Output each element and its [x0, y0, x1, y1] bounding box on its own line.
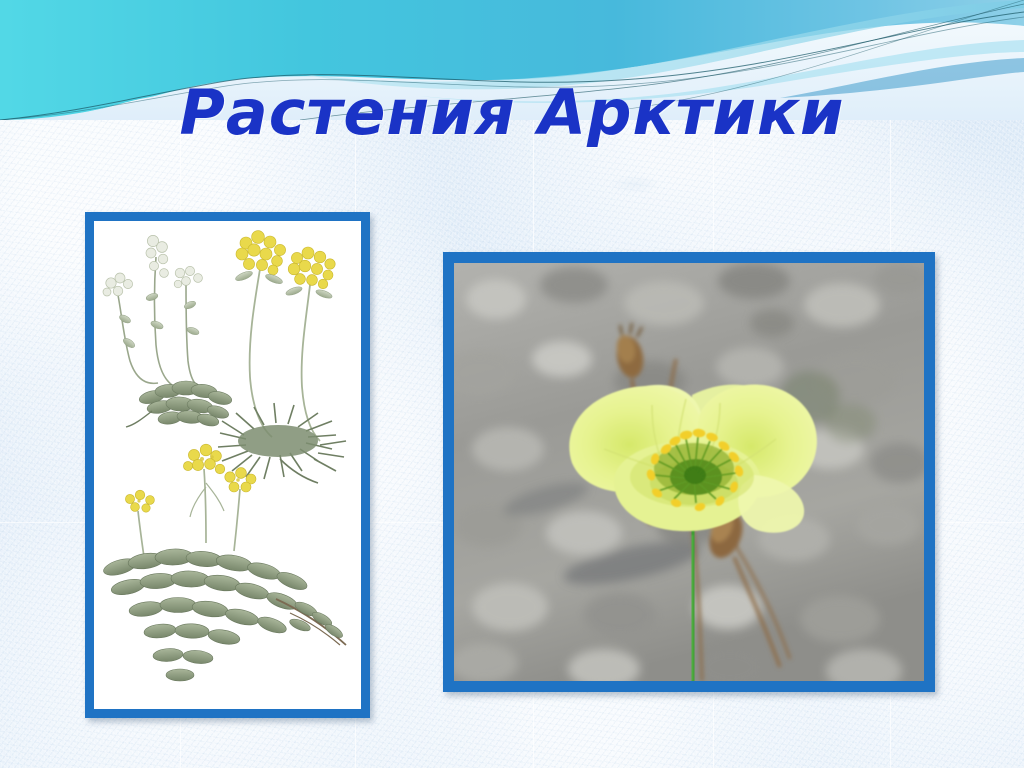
illustration-panel[interactable] [85, 212, 370, 718]
botanical-illustration-image [94, 221, 361, 709]
photo-panel[interactable] [443, 252, 935, 692]
slide-title: Растения Арктики [0, 76, 1024, 149]
arctic-poppy-photo [454, 263, 924, 681]
slide-canvas: Растения Арктики [0, 0, 1024, 768]
